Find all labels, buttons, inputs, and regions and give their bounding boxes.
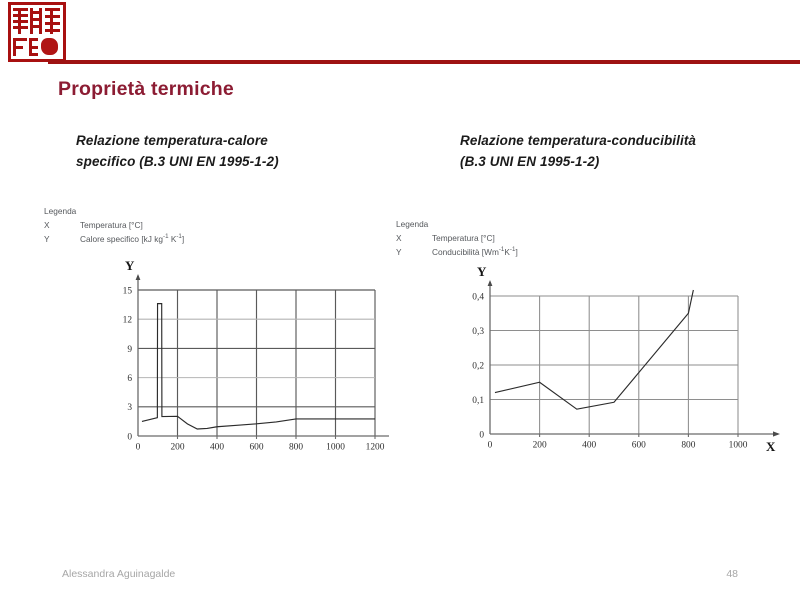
x-tick-label: 800 <box>681 441 695 451</box>
x-axis-name: X <box>766 439 776 454</box>
specific-heat-plot: 02004006008001000120003691215Y <box>112 262 397 462</box>
x-tick-label: 1000 <box>729 441 748 451</box>
x-tick-label: 400 <box>582 441 596 451</box>
header-divider <box>48 60 800 64</box>
y-tick-label: 0,3 <box>472 327 484 337</box>
footer-author: Alessandra Aguinagalde <box>62 568 175 580</box>
y-axis-arrow-icon <box>136 274 141 280</box>
thermal-conductivity-plot: 0200400600800100000,10,20,30,4YX <box>466 268 786 468</box>
right-chart-heading-line1: Relazione temperatura-conducibilità <box>460 131 790 152</box>
legend-key-x: X <box>44 219 80 232</box>
legend-row-x: X Temperatura [°C] <box>396 232 518 245</box>
legend-title: Legenda <box>44 205 184 218</box>
legend-value-y: Calore specifico [kJ kg-1 K-1] <box>80 233 184 246</box>
x-tick-label: 0 <box>488 441 493 451</box>
y-tick-label: 3 <box>127 403 132 413</box>
y-tick-label: 0 <box>479 430 484 440</box>
left-chart-heading: Relazione temperatura-calore specifico (… <box>76 131 406 173</box>
page-title: Proprietà termiche <box>58 78 234 101</box>
x-tick-label: 1000 <box>326 443 345 453</box>
y-tick-label: 6 <box>127 374 132 384</box>
left-chart-legend: Legenda X Temperatura [°C] Y Calore spec… <box>44 205 184 246</box>
slide-canvas: Proprietà termiche Relazione temperatura… <box>0 0 800 600</box>
y-tick-label: 9 <box>127 345 132 355</box>
x-tick-label: 800 <box>289 443 303 453</box>
x-tick-label: 400 <box>210 443 224 453</box>
x-tick-label: 600 <box>632 441 646 451</box>
legend-row-y: Y Conducibilità [Wm-1K-1] <box>396 246 518 259</box>
legend-key-x: X <box>396 232 432 245</box>
right-chart-heading: Relazione temperatura-conducibilità (B.3… <box>460 131 790 173</box>
legend-key-y: Y <box>396 246 432 259</box>
legend-value-x: Temperatura [°C] <box>80 219 143 232</box>
x-tick-label: 600 <box>249 443 263 453</box>
x-tick-label: 200 <box>170 443 184 453</box>
seal-inner <box>12 6 62 58</box>
right-chart-legend: Legenda X Temperatura [°C] Y Conducibili… <box>396 218 518 259</box>
legend-value-y: Conducibilità [Wm-1K-1] <box>432 246 518 259</box>
seal-logo <box>8 2 66 62</box>
thermal-conductivity-chart: 0200400600800100000,10,20,30,4YX <box>466 268 786 468</box>
x-tick-label: 1200 <box>366 443 385 453</box>
legend-row-y: Y Calore specifico [kJ kg-1 K-1] <box>44 233 184 246</box>
left-chart-heading-line1: Relazione temperatura-calore <box>76 131 406 152</box>
x-tick-label: 0 <box>136 443 141 453</box>
y-tick-label: 0,1 <box>472 396 484 406</box>
specific-heat-chart: 02004006008001000120003691215Y <box>112 262 397 462</box>
y-tick-label: 0,2 <box>472 361 484 371</box>
legend-key-y: Y <box>44 233 80 246</box>
x-axis-arrow-icon <box>773 431 780 436</box>
left-chart-heading-line2: specifico (B.3 UNI EN 1995-1-2) <box>76 152 406 173</box>
data-series-line <box>142 304 375 429</box>
y-tick-label: 15 <box>123 286 133 296</box>
y-axis-arrow-icon <box>488 280 493 286</box>
y-tick-label: 0,4 <box>472 292 484 302</box>
seal-dot <box>41 38 58 55</box>
right-chart-heading-line2: (B.3 UNI EN 1995-1-2) <box>460 152 790 173</box>
y-tick-label: 0 <box>127 432 132 442</box>
y-axis-name: Y <box>125 258 135 273</box>
legend-title: Legenda <box>396 218 518 231</box>
legend-value-x: Temperatura [°C] <box>432 232 495 245</box>
legend-row-x: X Temperatura [°C] <box>44 219 184 232</box>
x-tick-label: 200 <box>533 441 547 451</box>
y-axis-name: Y <box>477 264 487 279</box>
footer-page-number: 48 <box>726 568 738 580</box>
data-series-line <box>495 290 693 409</box>
y-tick-label: 12 <box>123 316 133 326</box>
